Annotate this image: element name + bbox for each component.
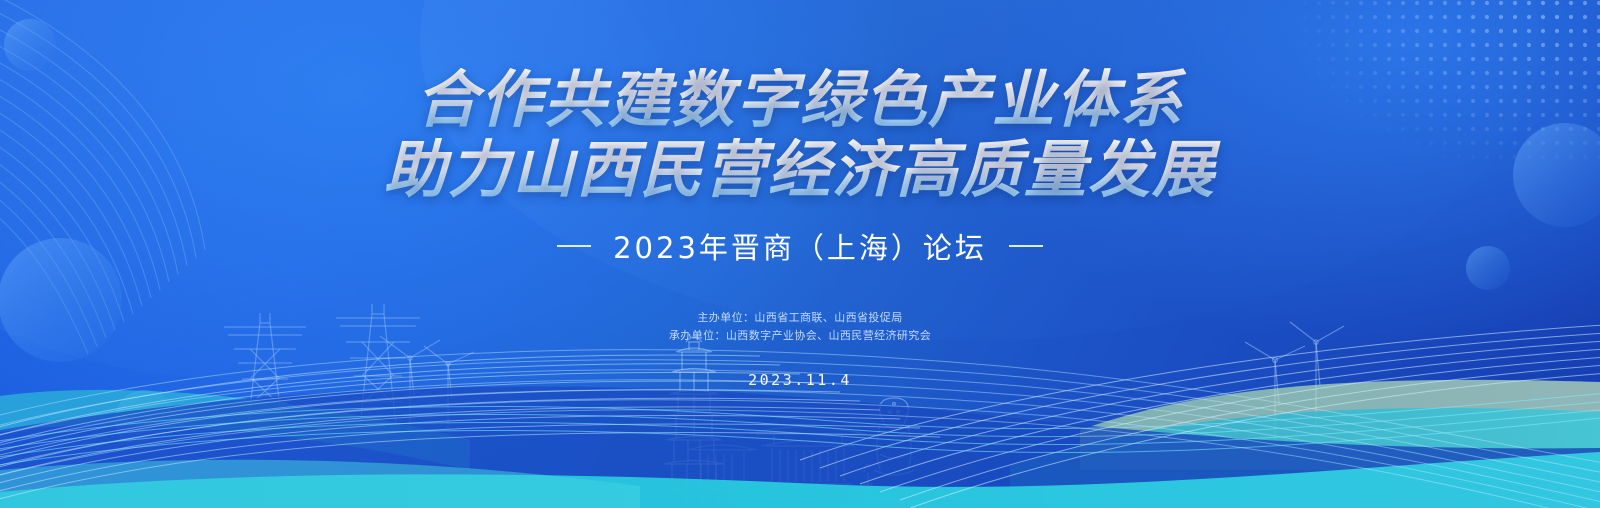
- dash-right-icon: [1009, 245, 1043, 247]
- banner-content: 合作共建数字绿色产业体系 助力山西民营经济高质量发展 2023年晋商（上海）论坛…: [0, 0, 1600, 389]
- title-line-2: 助力山西民营经济高质量发展: [0, 138, 1600, 202]
- conference-banner: 合作共建数字绿色产业体系 助力山西民营经济高质量发展 2023年晋商（上海）论坛…: [0, 0, 1600, 508]
- organizer-block: 主办单位：山西省工商联、山西省投促局 承办单位：山西数字产业协会、山西民营经济研…: [0, 309, 1600, 345]
- subtitle-text: 2023年晋商（上海）论坛: [613, 225, 987, 267]
- co-organizer-line: 承办单位：山西数字产业协会、山西民营经济研究会: [0, 327, 1600, 345]
- title-block: 合作共建数字绿色产业体系 助力山西民营经济高质量发展: [0, 0, 1600, 203]
- event-date: 2023.11.4: [0, 371, 1600, 389]
- subtitle: 2023年晋商（上海）论坛: [0, 225, 1600, 267]
- title-line-1: 合作共建数字绿色产业体系: [0, 68, 1600, 132]
- host-organizer-line: 主办单位：山西省工商联、山西省投促局: [0, 309, 1600, 327]
- dash-left-icon: [557, 245, 591, 247]
